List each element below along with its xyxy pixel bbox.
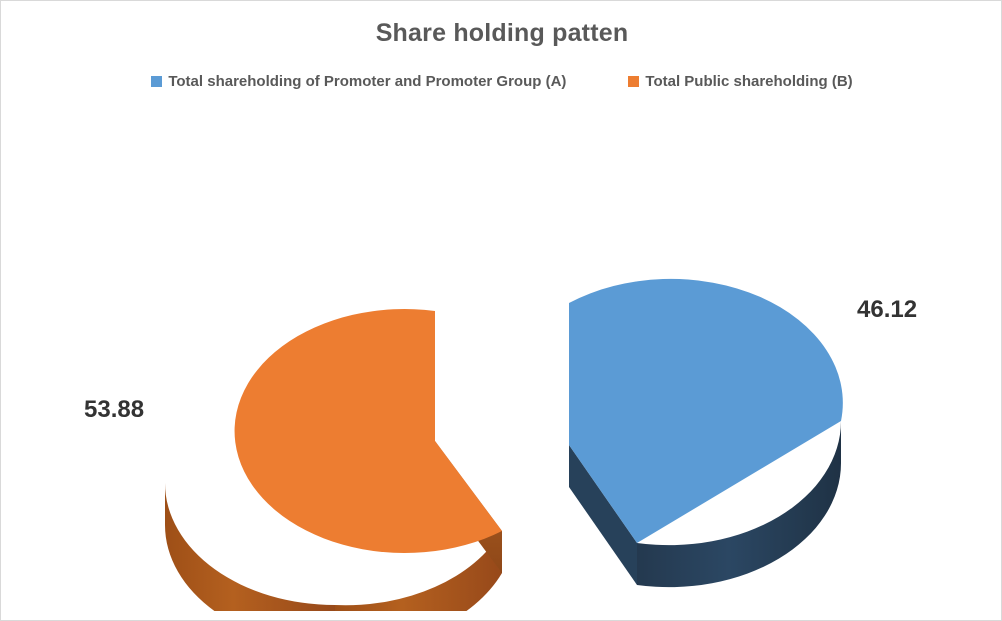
legend-item-public[interactable]: Total Public shareholding (B) [628,73,852,90]
pie-slice-public[interactable] [165,309,502,611]
pie-slice-promoter[interactable] [569,279,843,587]
legend-label-promoter: Total shareholding of Promoter and Promo… [168,73,566,90]
chart-legend: Total shareholding of Promoter and Promo… [1,73,1002,90]
legend-swatch-promoter-icon [151,76,162,87]
data-label-public: 53.88 [84,396,144,424]
plot-area: 46.12 53.88 [1,111,1002,611]
data-label-promoter: 46.12 [857,296,917,324]
pie-chart-svg [1,111,1002,611]
chart-title: Share holding patten [1,19,1002,48]
legend-label-public: Total Public shareholding (B) [645,73,852,90]
legend-item-promoter[interactable]: Total shareholding of Promoter and Promo… [151,73,566,90]
chart-container: Share holding patten Total shareholding … [0,0,1002,621]
legend-swatch-public-icon [628,76,639,87]
pie-slice-public-top [235,309,502,553]
